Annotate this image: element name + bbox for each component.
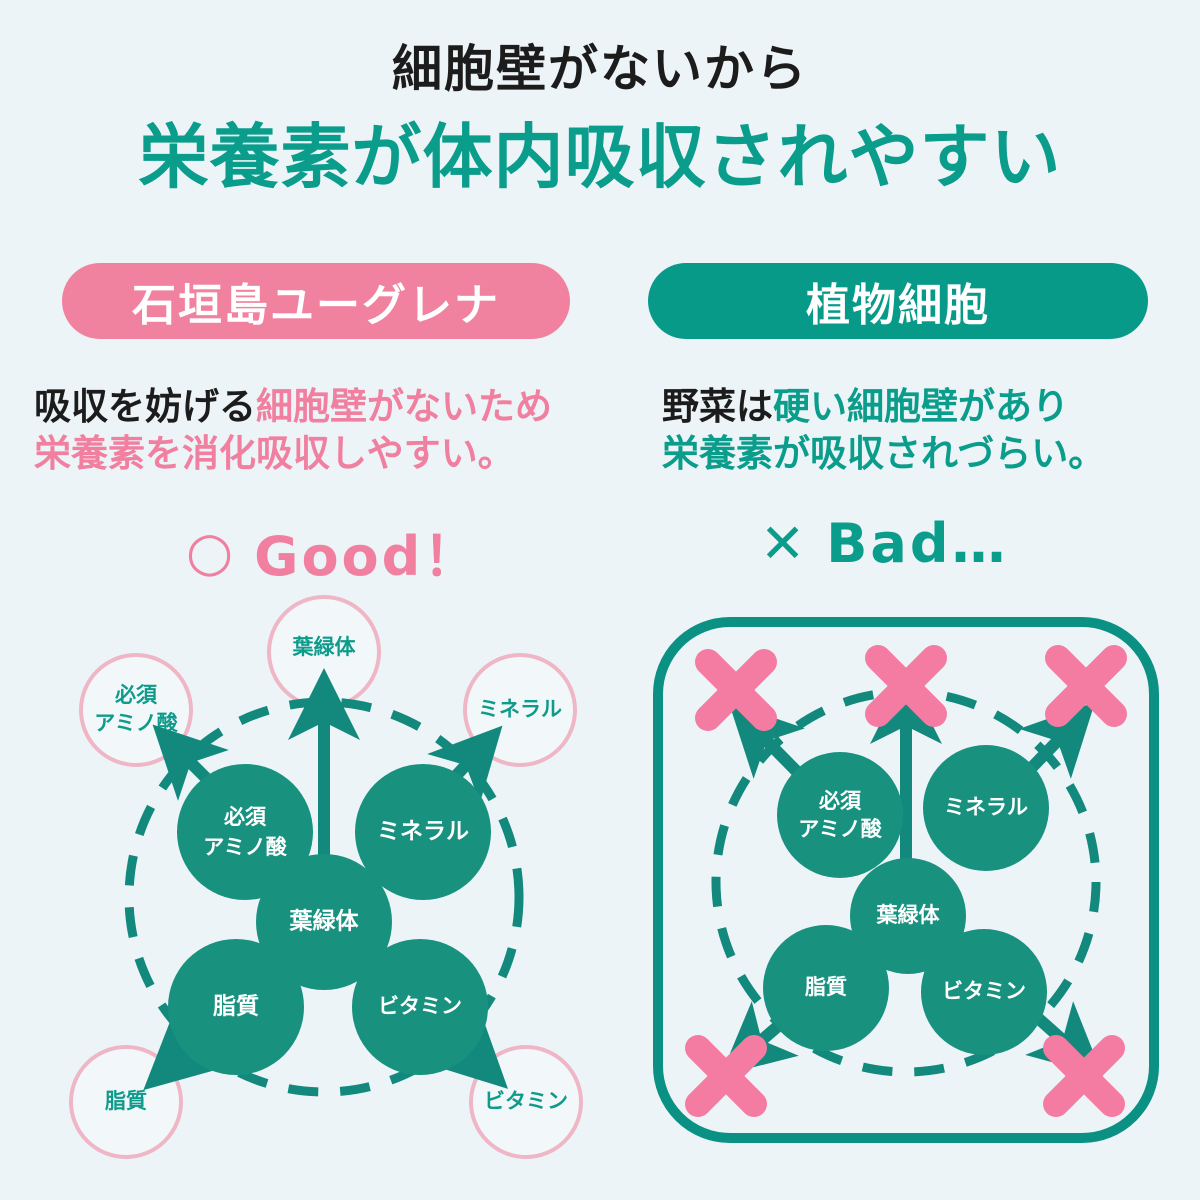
column-header-left: 石垣島ユーグレナ (62, 263, 570, 339)
headline-subtitle: 細胞壁がないから (0, 44, 1200, 94)
page-title: 細胞壁がないから 栄養素が体内吸収されやすい (0, 44, 1200, 192)
outer-label-lipid: 脂質 (71, 1047, 181, 1157)
inner-node-vitamin-text: ビタミン (942, 979, 1026, 1003)
outer-label-mineral-text: ミネラル (478, 697, 562, 721)
cross-icon-bottom-right (1056, 1048, 1112, 1104)
desc-right-accent: 硬い細胞壁があり (773, 385, 1069, 428)
inner-node-chloroplast-text: 葉緑体 (876, 903, 941, 927)
description-left-line2: 栄養素を消化吸収しやすい。 (34, 430, 594, 477)
description-right-line2: 栄養素が吸収されづらい。 (662, 430, 1200, 477)
pill-label-left: 石垣島ユーグレナ (132, 269, 500, 333)
inner-node-vitamin: ビタミン (352, 939, 488, 1075)
outer-label-lipid-text: 脂質 (105, 1089, 147, 1113)
inner-node-mineral-text: ミネラル (944, 795, 1028, 819)
inner-node-mineral: ミネラル (923, 745, 1049, 871)
inner-node-vitamin: ビタミン (921, 929, 1047, 1055)
cross-icon-top-center (878, 658, 934, 714)
cross-icon-top-left (708, 662, 764, 718)
outer-label-vitamin: ビタミン (471, 1047, 581, 1157)
outer-label-vitamin-text: ビタミン (484, 1089, 568, 1113)
description-right: 野菜は硬い細胞壁があり 栄養素が吸収されづらい。 (662, 383, 1200, 478)
column-header-right: 植物細胞 (648, 263, 1148, 339)
outer-label-chloroplast-text: 葉緑体 (292, 635, 357, 659)
outer-label-amino-acid: 必須 アミノ酸 (81, 655, 191, 765)
circle-ok-icon: ○ (186, 525, 236, 579)
inner-node-amino-acid: 必須 アミノ酸 (777, 752, 903, 878)
description-right-line1: 野菜は硬い細胞壁があり (662, 383, 1200, 430)
verdict-left-label: Good！ (254, 512, 480, 591)
verdict-left: ○ Good！ (186, 512, 480, 591)
diagram-plant-cell: 必須 アミノ酸 ミネラル 葉緑体 脂質 ビタミン (636, 600, 1176, 1160)
cross-icon-top-right (1058, 658, 1114, 714)
inner-node-amino-acid-text-b: アミノ酸 (203, 835, 288, 859)
diagram-euglena-cell: 葉緑体 必須 アミノ酸 ミネラル 脂質 ビタミン (48, 592, 600, 1162)
inner-node-amino-acid-text-a: 必須 (224, 805, 267, 829)
outer-label-mineral: ミネラル (465, 655, 575, 765)
pill-label-right: 植物細胞 (806, 269, 990, 333)
verdict-right-label: Bad… (826, 512, 1008, 575)
inner-node-amino-acid-text-a: 必須 (819, 789, 862, 813)
cross-bad-icon: ✕ (760, 517, 808, 571)
description-left-line1: 吸収を妨げる細胞壁がないため (34, 383, 594, 430)
desc-left-accent: 細胞壁がないため (256, 385, 552, 428)
inner-node-lipid: 脂質 (763, 925, 889, 1051)
inner-node-lipid-text: 脂質 (213, 994, 259, 1020)
outer-label-chloroplast: 葉緑体 (269, 597, 379, 707)
inner-node-mineral-text: ミネラル (377, 819, 469, 845)
description-left: 吸収を妨げる細胞壁がないため 栄養素を消化吸収しやすい。 (34, 383, 594, 478)
cross-icon-bottom-left (698, 1048, 754, 1104)
inner-node-lipid-text: 脂質 (805, 975, 847, 999)
infographic-canvas: 細胞壁がないから 栄養素が体内吸収されやすい 石垣島ユーグレナ 植物細胞 吸収を… (0, 0, 1200, 1200)
inner-node-vitamin-text: ビタミン (378, 994, 462, 1018)
desc-right-plain: 野菜は (662, 385, 773, 428)
inner-node-chloroplast-text: 葉緑体 (289, 908, 360, 935)
diagram-right-svg: 必須 アミノ酸 ミネラル 葉緑体 脂質 ビタミン (636, 600, 1176, 1160)
outer-label-amino-acid-text-b: アミノ酸 (94, 711, 179, 735)
desc-left-plain: 吸収を妨げる (34, 385, 256, 428)
diagram-left-svg: 葉緑体 必須 アミノ酸 ミネラル 脂質 ビタミン (48, 592, 600, 1162)
outer-label-amino-acid-text-a: 必須 (115, 683, 158, 707)
inner-node-amino-acid-text-b: アミノ酸 (798, 817, 883, 841)
inner-node-lipid: 脂質 (168, 939, 304, 1075)
verdict-right: ✕ Bad… (760, 512, 1009, 575)
headline-main: 栄養素が体内吸収されやすい (0, 122, 1200, 192)
